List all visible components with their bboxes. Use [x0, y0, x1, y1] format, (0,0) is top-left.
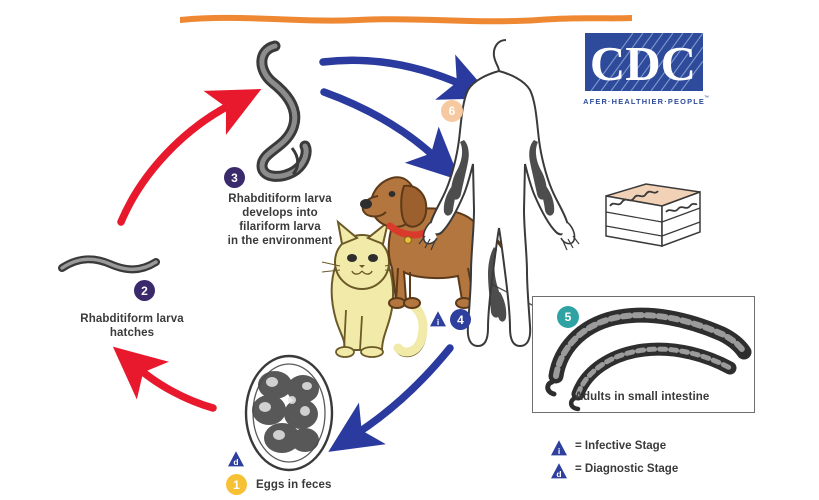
step-5-label: Adults in small intestine — [537, 390, 747, 404]
legend-infective-text: Infective Stage — [585, 440, 666, 452]
skin-penetration-block — [606, 184, 700, 246]
step-3-label-line-4: in the environment — [200, 234, 360, 248]
legend-infective-letter: i — [558, 446, 560, 456]
legend-diagnostic-text: Diagnostic Stage — [585, 463, 678, 475]
legend-infective-triangle-icon: i — [549, 438, 569, 457]
infective-badge-letter: i — [437, 317, 439, 327]
step-3-label-line-2: develops into — [200, 206, 360, 220]
step-4-marker: 4 — [450, 309, 471, 330]
step-1-label: Eggs in feces — [256, 478, 376, 492]
legend-diagnostic-equals: = — [575, 463, 582, 475]
step-3-marker: 3 — [224, 167, 245, 188]
diagnostic-badge-letter: d — [233, 457, 238, 467]
legend-diagnostic-triangle-icon: d — [549, 461, 569, 480]
parasite-egg-illustration — [246, 356, 332, 470]
diagnostic-stage-triangle-icon: d — [226, 449, 246, 468]
step-6-marker: 6 — [441, 100, 463, 122]
step-2-label-line-1: Rhabditiform larva — [48, 312, 216, 326]
step-2-label: Rhabditiform larva hatches — [48, 312, 216, 340]
rhabditiform-larva-illustration — [62, 259, 156, 269]
legend-infective-label: = Infective Stage — [575, 440, 666, 452]
legend-infective-equals: = — [575, 440, 582, 452]
step-3-label-line-1: Rhabditiform larva — [200, 192, 360, 206]
infective-stage-triangle-icon: i — [428, 309, 448, 328]
illustration-layer — [0, 0, 819, 500]
step-3-label: Rhabditiform larva develops into filarif… — [200, 192, 360, 248]
filariform-larva-illustration — [262, 46, 306, 176]
human-body-outline — [419, 40, 579, 346]
step-3-label-line-3: filariform larva — [200, 220, 360, 234]
step-2-marker: 2 — [134, 280, 155, 301]
legend-diagnostic-label: = Diagnostic Stage — [575, 463, 678, 475]
step-5-marker: 5 — [557, 306, 579, 328]
step-2-label-line-2: hatches — [48, 326, 216, 340]
legend-diagnostic-letter: d — [556, 469, 561, 479]
step-1-marker: 1 — [226, 474, 247, 495]
life-cycle-diagram: CDC SAFER·HEALTHIER·PEOPLE ™ — [0, 0, 819, 500]
